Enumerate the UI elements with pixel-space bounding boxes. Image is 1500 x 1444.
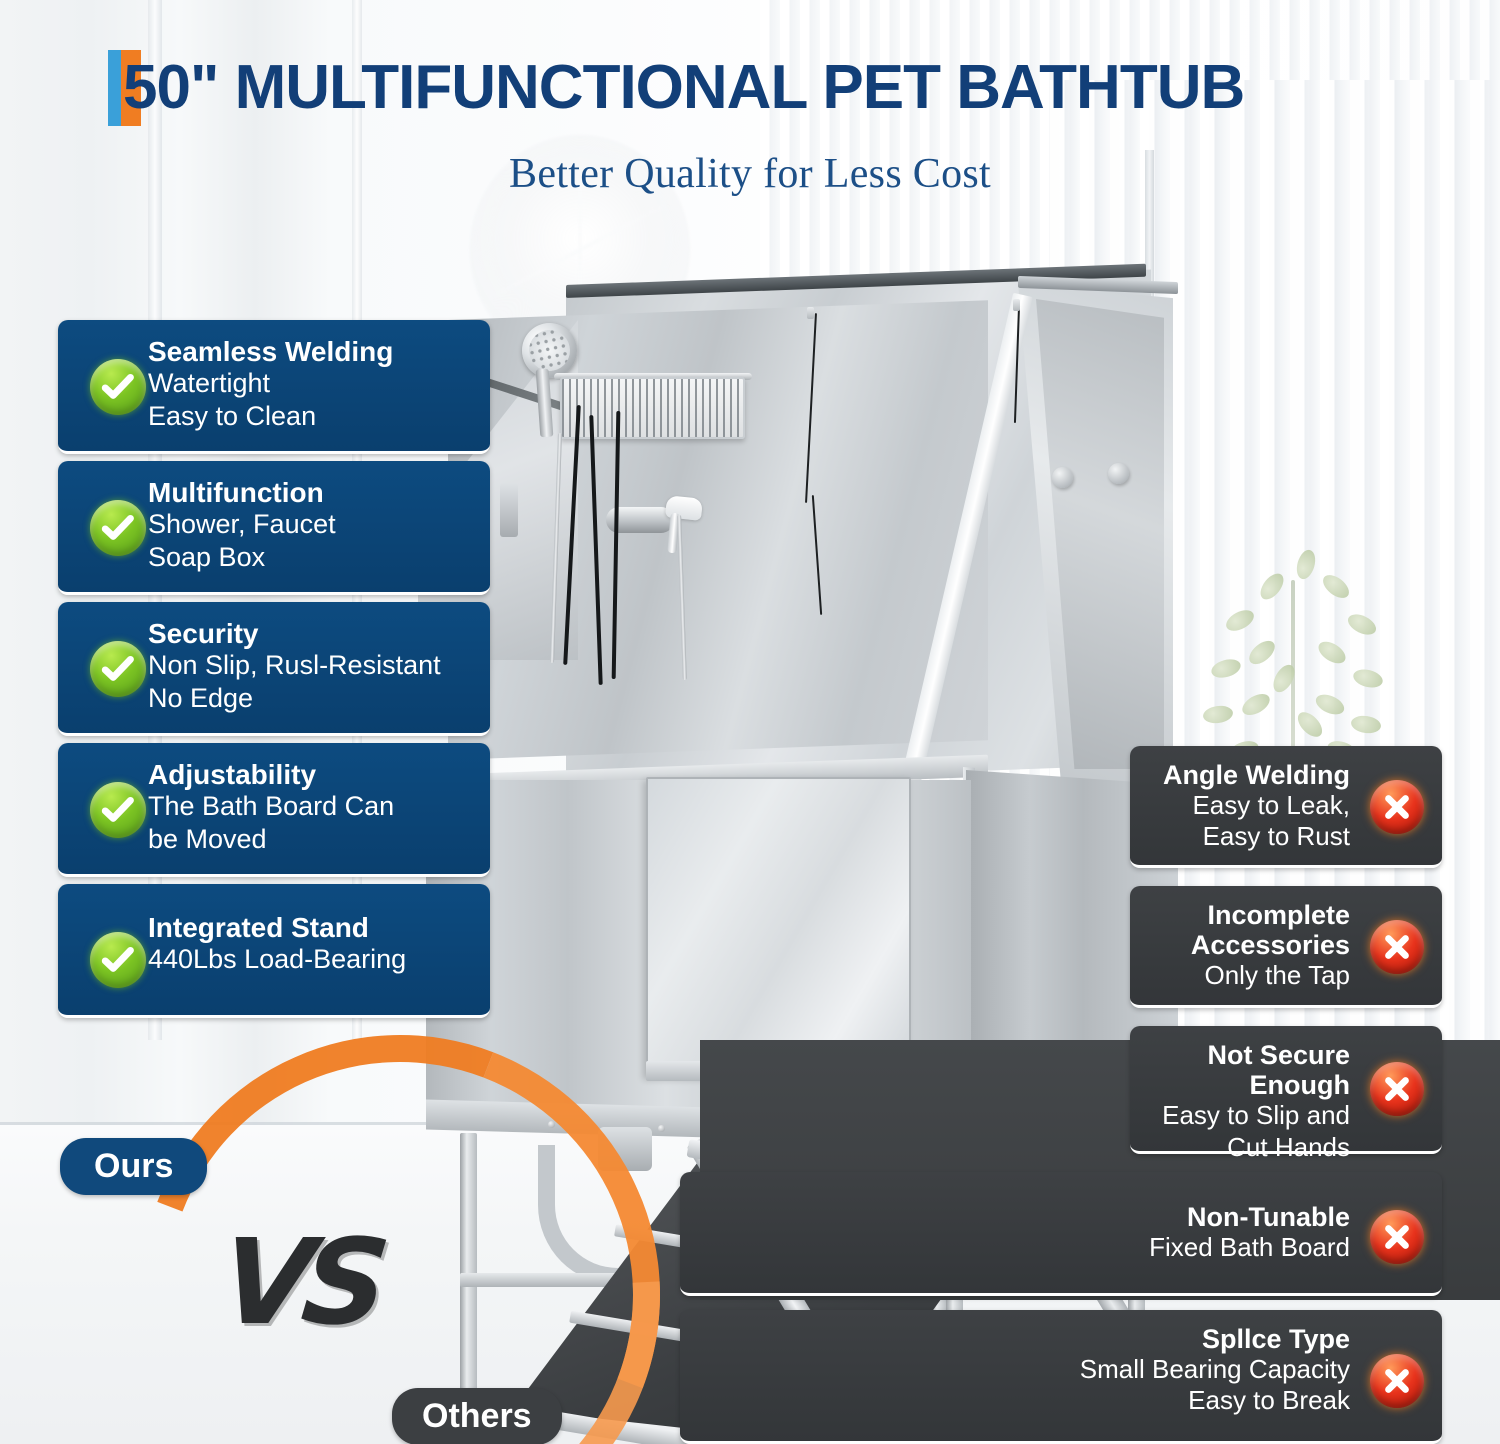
drawback-panel-non-tunable[interactable]: Non-Tunable Fixed Bath Board <box>680 1172 1442 1296</box>
bath-board <box>646 777 911 1077</box>
drawback-panel-incomplete-accessories[interactable]: Incomplete Accessories Only the Tap <box>1130 886 1442 1008</box>
title-row: 50" MULTIFUNCTIONAL PET BATHTUB <box>108 50 1244 126</box>
feature-line-1: Non Slip, Rusl-Resistant <box>148 649 470 681</box>
drawback-line-2: Cut Hands <box>1152 1132 1350 1163</box>
feature-line-1: Shower, Faucet <box>148 508 470 540</box>
drawback-line-1: Small Bearing Capacity <box>702 1354 1350 1385</box>
feature-line-2: be Moved <box>148 823 470 855</box>
wall-knob-left <box>1052 467 1073 488</box>
page-subtitle: Better Quality for Less Cost <box>0 150 1500 198</box>
feature-title: Adjustability <box>148 759 470 790</box>
cross-icon <box>1370 1354 1424 1408</box>
feature-panel-multifunction[interactable]: Multifunction Shower, Faucet Soap Box <box>58 461 490 595</box>
wire-clip-left <box>807 307 814 319</box>
feature-line-1: 440Lbs Load-Bearing <box>148 943 470 975</box>
feature-title: Seamless Welding <box>148 336 470 367</box>
vs-label: VS <box>215 1213 386 1351</box>
apron-screw-2 <box>658 1125 665 1132</box>
drawback-line-1: Easy to Slip and <box>1152 1100 1350 1131</box>
feature-line-2: Easy to Clean <box>148 400 470 432</box>
page-title: 50" MULTIFUNCTIONAL PET BATHTUB <box>123 50 1244 126</box>
feature-panel-security[interactable]: Security Non Slip, Rusl-Resistant No Edg… <box>58 602 490 736</box>
wire-clip-right <box>1013 299 1020 311</box>
cross-icon <box>1370 780 1424 834</box>
feature-line-2: Soap Box <box>148 541 470 573</box>
badge-ours: Ours <box>60 1138 207 1195</box>
feature-panel-integrated-stand[interactable]: Integrated Stand 440Lbs Load-Bearing <box>58 884 490 1018</box>
feature-panel-adjustability[interactable]: Adjustability The Bath Board Can be Move… <box>58 743 490 877</box>
soap-box-basket <box>560 377 745 439</box>
drawback-line-1: Only the Tap <box>1152 960 1350 991</box>
drawback-panel-splice-type[interactable]: Spllce Type Small Bearing Capacity Easy … <box>680 1310 1442 1444</box>
drawback-line-2: Easy to Break <box>702 1385 1350 1416</box>
wall-knob-right <box>1108 463 1129 484</box>
cross-icon <box>1370 920 1424 974</box>
shower-wall-hook <box>500 483 518 537</box>
accent-bar-blue-icon <box>108 50 121 126</box>
drawback-panel-not-secure[interactable]: Not Secure Enough Easy to Slip and Cut H… <box>1130 1026 1442 1154</box>
feature-title: Integrated Stand <box>148 912 470 943</box>
infographic-canvas: 50" MULTIFUNCTIONAL PET BATHTUB Better Q… <box>0 0 1500 1444</box>
drawback-panel-angle-welding[interactable]: Angle Welding Easy to Leak, Easy to Rust <box>1130 746 1442 868</box>
feature-panel-seamless-welding[interactable]: Seamless Welding Watertight Easy to Clea… <box>58 320 490 454</box>
drawback-title: Spllce Type <box>702 1324 1350 1354</box>
cross-icon <box>1370 1210 1424 1264</box>
check-icon <box>90 359 146 415</box>
drawback-title: Non-Tunable <box>702 1202 1350 1232</box>
drawback-line-1: Fixed Bath Board <box>702 1232 1350 1263</box>
drawback-title: Angle Welding <box>1152 760 1350 790</box>
badge-others: Others <box>392 1388 562 1444</box>
drawback-title: Incomplete Accessories <box>1152 900 1350 960</box>
feature-line-1: Watertight <box>148 367 470 399</box>
feature-line-2: No Edge <box>148 682 470 714</box>
feature-title: Multifunction <box>148 477 470 508</box>
drawback-line-2: Easy to Rust <box>1152 821 1350 852</box>
feature-line-1: The Bath Board Can <box>148 790 470 822</box>
drawback-line-1: Easy to Leak, <box>1152 790 1350 821</box>
check-icon <box>90 500 146 556</box>
feature-title: Security <box>148 618 470 649</box>
check-icon <box>90 932 146 988</box>
check-icon <box>90 641 146 697</box>
drawback-title: Not Secure Enough <box>1152 1040 1350 1100</box>
check-icon <box>90 782 146 838</box>
cross-icon <box>1370 1062 1424 1116</box>
